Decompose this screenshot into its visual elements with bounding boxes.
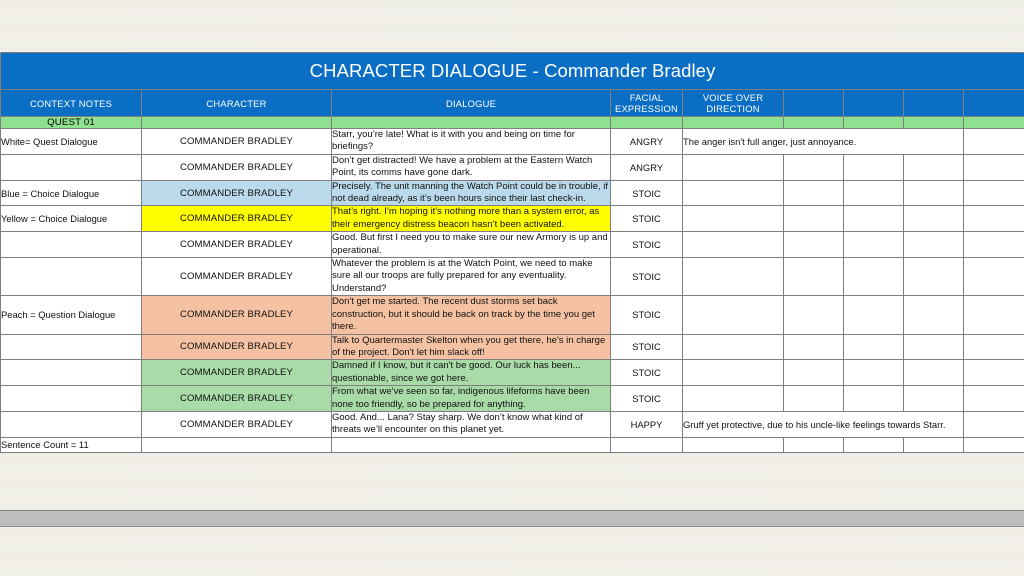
cell-character-9[interactable]: COMMANDER BRADLEY xyxy=(142,386,332,412)
cell-context-notes-1[interactable] xyxy=(1,154,142,180)
cell-dialogue-7[interactable]: Talk to Quartermaster Skelton when you g… xyxy=(332,334,611,360)
cell-dialogue-1[interactable]: Don’t get distracted! We have a problem … xyxy=(332,154,611,180)
cell-character-3[interactable]: COMMANDER BRADLEY xyxy=(142,206,332,232)
voice-over-line-2: DIRECTION xyxy=(683,103,783,114)
cell-context-notes-0[interactable]: White= Quest Dialogue xyxy=(1,129,142,155)
cell-extra-1-3[interactable] xyxy=(784,206,844,232)
cell-extra-2-3[interactable] xyxy=(844,206,904,232)
cell-extra-3-6[interactable] xyxy=(904,296,964,334)
facial-expression-line-1: FACIAL xyxy=(611,92,682,103)
column-header-extra-1[interactable] xyxy=(784,90,844,117)
cell-extra-4-2[interactable] xyxy=(964,180,1024,206)
voice-over-line-1: VOICE OVER xyxy=(683,92,783,103)
cell-extra-3-2[interactable] xyxy=(904,180,964,206)
cell-extra-1-1[interactable] xyxy=(784,154,844,180)
cell-extra-4-1[interactable] xyxy=(964,154,1024,180)
cell-character-6[interactable]: COMMANDER BRADLEY xyxy=(142,296,332,334)
column-header-voice-over-direction[interactable]: VOICE OVER DIRECTION xyxy=(683,90,784,117)
cell-dialogue-3[interactable]: That’s right. I’m hoping it's nothing mo… xyxy=(332,206,611,232)
cell-context-notes-6[interactable]: Peach = Question Dialogue xyxy=(1,296,142,334)
quest-band-cell-character[interactable] xyxy=(142,117,332,129)
table-row: Blue = Choice DialogueCOMMANDER BRADLEYP… xyxy=(1,180,1024,206)
cell-extra-4-3[interactable] xyxy=(964,206,1024,232)
cell-extra-4-10[interactable] xyxy=(964,411,1024,437)
column-header-extra-3[interactable] xyxy=(904,90,964,117)
cell-extra-3-9[interactable] xyxy=(904,386,964,412)
table-row: COMMANDER BRADLEYDon’t get distracted! W… xyxy=(1,154,1024,180)
dialogue-table: CHARACTER DIALOGUE - Commander Bradley C… xyxy=(0,52,1024,453)
sentence-count-label[interactable]: Sentence Count = 11 xyxy=(1,437,142,452)
table-row: COMMANDER BRADLEYGood. But first I need … xyxy=(1,232,1024,258)
cell-voice-over-9[interactable] xyxy=(683,386,784,412)
cell-context-notes-10[interactable] xyxy=(1,411,142,437)
cell-voice-over-2[interactable] xyxy=(683,180,784,206)
dialogue-rows: White= Quest DialogueCOMMANDER BRADLEYSt… xyxy=(1,129,1024,438)
sheet-bottom-strip xyxy=(0,510,1024,527)
cell-context-notes-9[interactable] xyxy=(1,386,142,412)
cell-expression-0[interactable]: ANGRY xyxy=(611,129,683,155)
quest-band-cell-extra-2[interactable] xyxy=(844,117,904,129)
cell-voice-over-3[interactable] xyxy=(683,206,784,232)
cell-character-2[interactable]: COMMANDER BRADLEY xyxy=(142,180,332,206)
cell-extra-4-5[interactable] xyxy=(964,258,1024,296)
cell-context-notes-5[interactable] xyxy=(1,258,142,296)
cell-dialogue-10[interactable]: Good. And... Lana? Stay sharp. We don’t … xyxy=(332,411,611,437)
quest-band-cell-extra-3[interactable] xyxy=(904,117,964,129)
quest-band-cell-dialogue[interactable] xyxy=(332,117,611,129)
cell-character-0[interactable]: COMMANDER BRADLEY xyxy=(142,129,332,155)
cell-expression-8[interactable]: STOIC xyxy=(611,360,683,386)
cell-extra-2-9[interactable] xyxy=(844,386,904,412)
cell-extra-2-8[interactable] xyxy=(844,360,904,386)
quest-label[interactable]: QUEST 01 xyxy=(1,117,142,129)
table-row: COMMANDER BRADLEYWhatever the problem is… xyxy=(1,258,1024,296)
cell-extra-4-7[interactable] xyxy=(964,334,1024,360)
column-header-extra-4[interactable] xyxy=(964,90,1024,117)
cell-dialogue-4[interactable]: Good. But first I need you to make sure … xyxy=(332,232,611,258)
dialogue-spreadsheet: CHARACTER DIALOGUE - Commander Bradley C… xyxy=(0,52,1024,453)
cell-extra-1-6[interactable] xyxy=(784,296,844,334)
cell-context-notes-2[interactable]: Blue = Choice Dialogue xyxy=(1,180,142,206)
cell-dialogue-5[interactable]: Whatever the problem is at the Watch Poi… xyxy=(332,258,611,296)
cell-dialogue-2[interactable]: Precisely. The unit manning the Watch Po… xyxy=(332,180,611,206)
cell-context-notes-3[interactable]: Yellow = Choice Dialogue xyxy=(1,206,142,232)
cell-context-notes-7[interactable] xyxy=(1,334,142,360)
cell-voice-over-7[interactable] xyxy=(683,334,784,360)
cell-extra-2-4[interactable] xyxy=(844,232,904,258)
cell-extra-2-7[interactable] xyxy=(844,334,904,360)
title-row: CHARACTER DIALOGUE - Commander Bradley xyxy=(1,53,1024,90)
cell-expression-5[interactable]: STOIC xyxy=(611,258,683,296)
cell-character-4[interactable]: COMMANDER BRADLEY xyxy=(142,232,332,258)
cell-extra-4-4[interactable] xyxy=(964,232,1024,258)
column-header-dialogue[interactable]: DIALOGUE xyxy=(332,90,611,117)
sentence-count-cell-extra-1[interactable] xyxy=(784,437,844,452)
cell-extra-4-0[interactable] xyxy=(964,129,1024,155)
cell-extra-1-5[interactable] xyxy=(784,258,844,296)
sentence-count-cell-vo[interactable] xyxy=(683,437,784,452)
column-header-character[interactable]: CHARACTER xyxy=(142,90,332,117)
quest-band-cell-extra-1[interactable] xyxy=(784,117,844,129)
cell-dialogue-8[interactable]: Damned if I know, but it can't be good. … xyxy=(332,360,611,386)
table-row: Yellow = Choice DialogueCOMMANDER BRADLE… xyxy=(1,206,1024,232)
table-row: COMMANDER BRADLEYDamned if I know, but i… xyxy=(1,360,1024,386)
cell-extra-3-7[interactable] xyxy=(904,334,964,360)
cell-extra-2-2[interactable] xyxy=(844,180,904,206)
cell-character-5[interactable]: COMMANDER BRADLEY xyxy=(142,258,332,296)
cell-extra-4-8[interactable] xyxy=(964,360,1024,386)
cell-voice-over-6[interactable] xyxy=(683,296,784,334)
column-header-facial-expression[interactable]: FACIAL EXPRESSION xyxy=(611,90,683,117)
cell-extra-2-6[interactable] xyxy=(844,296,904,334)
cell-extra-4-6[interactable] xyxy=(964,296,1024,334)
quest-band-row: QUEST 01 xyxy=(1,117,1024,129)
cell-extra-3-1[interactable] xyxy=(904,154,964,180)
table-row: COMMANDER BRADLEYGood. And... Lana? Stay… xyxy=(1,411,1024,437)
sentence-count-cell-extra-3[interactable] xyxy=(904,437,964,452)
cell-character-7[interactable]: COMMANDER BRADLEY xyxy=(142,334,332,360)
cell-extra-3-3[interactable] xyxy=(904,206,964,232)
cell-voice-over-4[interactable] xyxy=(683,232,784,258)
column-header-context-notes[interactable]: CONTEXT NOTES xyxy=(1,90,142,117)
cell-extra-1-2[interactable] xyxy=(784,180,844,206)
cell-expression-1[interactable]: ANGRY xyxy=(611,154,683,180)
quest-band-cell-vo[interactable] xyxy=(683,117,784,129)
cell-voice-over-5[interactable] xyxy=(683,258,784,296)
sentence-count-cell-character[interactable] xyxy=(142,437,332,452)
sentence-count-cell-dialogue[interactable] xyxy=(332,437,611,452)
cell-dialogue-9[interactable]: From what we've seen so far, indigenous … xyxy=(332,386,611,412)
cell-expression-9[interactable]: STOIC xyxy=(611,386,683,412)
facial-expression-line-2: EXPRESSION xyxy=(611,103,682,114)
cell-voice-over-10[interactable]: Gruff yet protective, due to his uncle-l… xyxy=(683,411,964,437)
cell-character-8[interactable]: COMMANDER BRADLEY xyxy=(142,360,332,386)
sentence-count-cell-expression[interactable] xyxy=(611,437,683,452)
cell-extra-3-8[interactable] xyxy=(904,360,964,386)
cell-voice-over-0[interactable]: The anger isn't full anger, just annoyan… xyxy=(683,129,964,155)
cell-character-1[interactable]: COMMANDER BRADLEY xyxy=(142,154,332,180)
cell-expression-7[interactable]: STOIC xyxy=(611,334,683,360)
sentence-count-cell-extra-4[interactable] xyxy=(964,437,1024,452)
cell-dialogue-0[interactable]: Starr, you’re late! What is it with you … xyxy=(332,129,611,155)
quest-band-cell-extra-4[interactable] xyxy=(964,117,1024,129)
table-row: COMMANDER BRADLEYFrom what we've seen so… xyxy=(1,386,1024,412)
cell-character-10[interactable]: COMMANDER BRADLEY xyxy=(142,411,332,437)
sentence-count-cell-extra-2[interactable] xyxy=(844,437,904,452)
page-title: CHARACTER DIALOGUE - Commander Bradley xyxy=(1,53,1024,90)
cell-expression-10[interactable]: HAPPY xyxy=(611,411,683,437)
sentence-count-row: Sentence Count = 11 xyxy=(1,437,1024,452)
cell-extra-1-8[interactable] xyxy=(784,360,844,386)
cell-extra-2-5[interactable] xyxy=(844,258,904,296)
cell-expression-6[interactable]: STOIC xyxy=(611,296,683,334)
cell-voice-over-1[interactable] xyxy=(683,154,784,180)
cell-extra-1-7[interactable] xyxy=(784,334,844,360)
cell-extra-2-1[interactable] xyxy=(844,154,904,180)
cell-extra-3-5[interactable] xyxy=(904,258,964,296)
cell-extra-1-4[interactable] xyxy=(784,232,844,258)
cell-expression-4[interactable]: STOIC xyxy=(611,232,683,258)
table-row: Peach = Question DialogueCOMMANDER BRADL… xyxy=(1,296,1024,334)
cell-context-notes-4[interactable] xyxy=(1,232,142,258)
column-header-row: CONTEXT NOTES CHARACTER DIALOGUE FACIAL … xyxy=(1,90,1024,117)
column-header-extra-2[interactable] xyxy=(844,90,904,117)
cell-context-notes-8[interactable] xyxy=(1,360,142,386)
cell-voice-over-8[interactable] xyxy=(683,360,784,386)
cell-extra-4-9[interactable] xyxy=(964,386,1024,412)
table-row: COMMANDER BRADLEYTalk to Quartermaster S… xyxy=(1,334,1024,360)
cell-expression-3[interactable]: STOIC xyxy=(611,206,683,232)
quest-band-cell-expression[interactable] xyxy=(611,117,683,129)
cell-extra-1-9[interactable] xyxy=(784,386,844,412)
table-row: White= Quest DialogueCOMMANDER BRADLEYSt… xyxy=(1,129,1024,155)
cell-dialogue-6[interactable]: Don't get me started. The recent dust st… xyxy=(332,296,611,334)
cell-expression-2[interactable]: STOIC xyxy=(611,180,683,206)
cell-extra-3-4[interactable] xyxy=(904,232,964,258)
